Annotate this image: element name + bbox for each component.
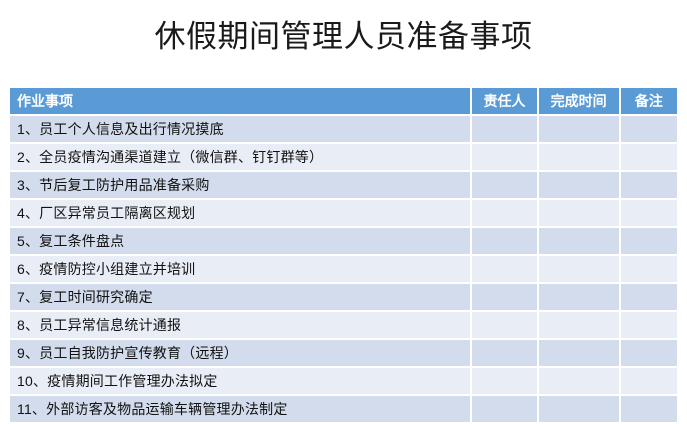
cell-note[interactable] bbox=[620, 395, 677, 423]
cell-completion-time[interactable] bbox=[538, 395, 620, 423]
cell-completion-time[interactable] bbox=[538, 115, 620, 143]
table-row[interactable]: 4、厂区异常员工隔离区规划 bbox=[10, 199, 677, 227]
cell-owner[interactable] bbox=[471, 199, 537, 227]
column-header-note[interactable]: 备注 bbox=[620, 88, 677, 115]
table-row[interactable]: 2、全员疫情沟通渠道建立（微信群、钉钉群等） bbox=[10, 143, 677, 171]
column-header-owner[interactable]: 责任人 bbox=[471, 88, 537, 115]
cell-owner[interactable] bbox=[471, 283, 537, 311]
cell-task[interactable]: 10、疫情期间工作管理办法拟定 bbox=[10, 367, 471, 395]
cell-task[interactable]: 5、复工条件盘点 bbox=[10, 227, 471, 255]
cell-completion-time[interactable] bbox=[538, 339, 620, 367]
cell-completion-time[interactable] bbox=[538, 311, 620, 339]
cell-completion-time[interactable] bbox=[538, 199, 620, 227]
preparation-checklist-table-container: 作业事项 责任人 完成时间 备注 1、员工个人信息及出行情况摸底2、全员疫情沟通… bbox=[10, 88, 677, 424]
table-row[interactable]: 1、员工个人信息及出行情况摸底 bbox=[10, 115, 677, 143]
cell-owner[interactable] bbox=[471, 395, 537, 423]
cell-owner[interactable] bbox=[471, 339, 537, 367]
column-header-task[interactable]: 作业事项 bbox=[10, 88, 471, 115]
cell-owner[interactable] bbox=[471, 143, 537, 171]
cell-task[interactable]: 8、员工异常信息统计通报 bbox=[10, 311, 471, 339]
table-row[interactable]: 6、疫情防控小组建立并培训 bbox=[10, 255, 677, 283]
cell-completion-time[interactable] bbox=[538, 227, 620, 255]
table-header-row: 作业事项 责任人 完成时间 备注 bbox=[10, 88, 677, 115]
column-header-completion-time[interactable]: 完成时间 bbox=[538, 88, 620, 115]
cell-note[interactable] bbox=[620, 199, 677, 227]
cell-note[interactable] bbox=[620, 283, 677, 311]
cell-owner[interactable] bbox=[471, 227, 537, 255]
preparation-checklist-table: 作业事项 责任人 完成时间 备注 1、员工个人信息及出行情况摸底2、全员疫情沟通… bbox=[10, 88, 677, 424]
cell-note[interactable] bbox=[620, 367, 677, 395]
table-row[interactable]: 7、复工时间研究确定 bbox=[10, 283, 677, 311]
table-row[interactable]: 8、员工异常信息统计通报 bbox=[10, 311, 677, 339]
cell-completion-time[interactable] bbox=[538, 367, 620, 395]
table-header: 作业事项 责任人 完成时间 备注 bbox=[10, 88, 677, 115]
document-page: 休假期间管理人员准备事项 作业事项 责任人 完成时间 备注 1、员工个人信息及出… bbox=[0, 0, 687, 424]
table-body: 1、员工个人信息及出行情况摸底2、全员疫情沟通渠道建立（微信群、钉钉群等）3、节… bbox=[10, 115, 677, 423]
cell-note[interactable] bbox=[620, 339, 677, 367]
cell-task[interactable]: 11、外部访客及物品运输车辆管理办法制定 bbox=[10, 395, 471, 423]
cell-completion-time[interactable] bbox=[538, 143, 620, 171]
cell-task[interactable]: 2、全员疫情沟通渠道建立（微信群、钉钉群等） bbox=[10, 143, 471, 171]
cell-task[interactable]: 1、员工个人信息及出行情况摸底 bbox=[10, 115, 471, 143]
cell-owner[interactable] bbox=[471, 115, 537, 143]
cell-note[interactable] bbox=[620, 255, 677, 283]
cell-note[interactable] bbox=[620, 115, 677, 143]
table-row[interactable]: 10、疫情期间工作管理办法拟定 bbox=[10, 367, 677, 395]
cell-note[interactable] bbox=[620, 171, 677, 199]
cell-note[interactable] bbox=[620, 143, 677, 171]
cell-task[interactable]: 4、厂区异常员工隔离区规划 bbox=[10, 199, 471, 227]
cell-owner[interactable] bbox=[471, 171, 537, 199]
table-row[interactable]: 5、复工条件盘点 bbox=[10, 227, 677, 255]
cell-task[interactable]: 9、员工自我防护宣传教育（远程） bbox=[10, 339, 471, 367]
cell-owner[interactable] bbox=[471, 311, 537, 339]
cell-owner[interactable] bbox=[471, 255, 537, 283]
cell-owner[interactable] bbox=[471, 367, 537, 395]
table-row[interactable]: 3、节后复工防护用品准备采购 bbox=[10, 171, 677, 199]
cell-task[interactable]: 6、疫情防控小组建立并培训 bbox=[10, 255, 471, 283]
cell-completion-time[interactable] bbox=[538, 171, 620, 199]
cell-note[interactable] bbox=[620, 227, 677, 255]
cell-task[interactable]: 7、复工时间研究确定 bbox=[10, 283, 471, 311]
table-row[interactable]: 11、外部访客及物品运输车辆管理办法制定 bbox=[10, 395, 677, 423]
cell-note[interactable] bbox=[620, 311, 677, 339]
page-title: 休假期间管理人员准备事项 bbox=[0, 16, 687, 58]
table-row[interactable]: 9、员工自我防护宣传教育（远程） bbox=[10, 339, 677, 367]
cell-completion-time[interactable] bbox=[538, 283, 620, 311]
cell-task[interactable]: 3、节后复工防护用品准备采购 bbox=[10, 171, 471, 199]
cell-completion-time[interactable] bbox=[538, 255, 620, 283]
